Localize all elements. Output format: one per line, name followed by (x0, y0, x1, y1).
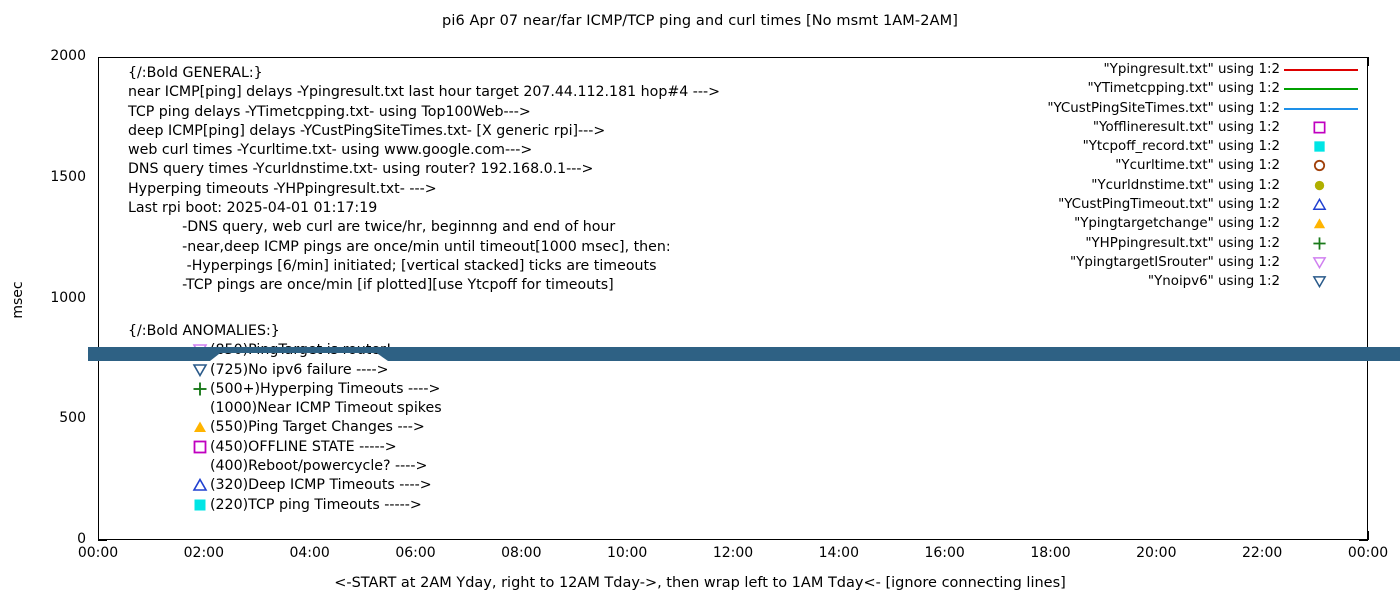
legend-key-square-open-icon (1284, 118, 1364, 137)
anomaly-row: (725)No ipv6 failure ----> (128, 361, 280, 380)
legend-symbol-sample (1312, 274, 1327, 289)
legend-row: "YHPpingresult.txt" using 1:2 (980, 234, 1280, 253)
legend-key-square-filled-icon (1284, 137, 1364, 156)
anomaly-label: (320)Deep ICMP Timeouts ----> (210, 476, 432, 495)
legend-label: "Ycurldnstime.txt" using 1:2 (1091, 178, 1280, 193)
selection-highlight-band (88, 347, 1400, 361)
x-tick-label: 22:00 (1227, 545, 1297, 561)
legend-line-sample (1284, 108, 1358, 110)
general-line: DNS query times -Ycurldnstime.txt- using… (128, 160, 720, 179)
x-tick-label: 10:00 (592, 545, 662, 561)
legend-row: "Ycurltime.txt" using 1:2 (980, 156, 1280, 175)
anomaly-label: (550)Ping Target Changes ---> (210, 418, 425, 437)
y-tick-mark (1359, 540, 1368, 541)
anomaly-symbol-square-open-magenta-icon (192, 439, 208, 455)
general-line: -near,deep ICMP pings are once/min until… (128, 238, 720, 257)
x-tick-label: 08:00 (486, 545, 556, 561)
legend-row: "Ypingtargetchange" using 1:2 (980, 214, 1280, 233)
x-tick-label: 20:00 (1121, 545, 1191, 561)
legend: "Ypingresult.txt" using 1:2"YTimetcpping… (980, 60, 1280, 292)
general-heading: {/:Bold GENERAL:} (128, 64, 720, 83)
anomaly-label: (220)TCP ping Timeouts -----> (210, 496, 422, 515)
general-line: near ICMP[ping] delays -Ypingresult.txt … (128, 83, 720, 102)
general-line: -TCP pings are once/min [if plotted][use… (128, 276, 720, 295)
legend-label: "Ypingtargetchange" using 1:2 (1074, 216, 1280, 231)
anomaly-row: (400)Reboot/powercycle? ----> (128, 457, 280, 476)
legend-row: "Ynoipv6" using 1:2 (980, 272, 1280, 291)
legend-symbol-sample (1312, 216, 1327, 231)
anomaly-symbol-plus-green-icon (192, 381, 208, 397)
chart-title: pi6 Apr 07 near/far ICMP/TCP ping and cu… (0, 13, 1400, 29)
x-tick-label: 12:00 (698, 545, 768, 561)
legend-label: "Ytcpoff_record.txt" using 1:2 (1083, 139, 1280, 154)
legend-key-line-icon (1284, 99, 1364, 118)
general-line: -Hyperpings [6/min] initiated; [vertical… (128, 257, 720, 276)
anomaly-label: (450)OFFLINE STATE -----> (210, 438, 397, 457)
general-annotation-block: {/:Bold GENERAL:}near ICMP[ping] delays … (128, 64, 720, 296)
legend-label: "Ycurltime.txt" using 1:2 (1115, 158, 1280, 173)
general-line: TCP ping delays -YTimetcpping.txt- using… (128, 103, 720, 122)
legend-label: "Ypingresult.txt" using 1:2 (1103, 62, 1280, 77)
x-tick-label: 00:00 (1333, 545, 1400, 561)
legend-row: "YTimetcpping.txt" using 1:2 (980, 79, 1280, 98)
x-tick-label: 00:00 (63, 545, 133, 561)
legend-label: "YCustPingSiteTimes.txt" using 1:2 (1047, 101, 1280, 116)
legend-row: "YCustPingTimeout.txt" using 1:2 (980, 195, 1280, 214)
x-tick-label: 16:00 (910, 545, 980, 561)
legend-row: "Ycurldnstime.txt" using 1:2 (980, 176, 1280, 195)
y-tick-mark (98, 540, 107, 541)
legend-key-line-icon (1284, 79, 1364, 98)
general-line: deep ICMP[ping] delays -YCustPingSiteTim… (128, 122, 720, 141)
general-line: Last rpi boot: 2025-04-01 01:17:19 (128, 199, 720, 218)
general-line: Hyperping timeouts -YHPpingresult.txt- -… (128, 180, 720, 199)
anomaly-row: (500+)Hyperping Timeouts ----> (128, 380, 280, 399)
x-tick-label: 06:00 (381, 545, 451, 561)
anomaly-symbol-triangle-up-filled-orange-icon (192, 419, 208, 435)
anomaly-symbol-triangle-up-open-blue-icon (192, 477, 208, 493)
y-tick-label: 500 (8, 410, 86, 426)
x-tick-label: 04:00 (275, 545, 345, 561)
legend-line-sample (1284, 88, 1358, 90)
x-tick-mark (1368, 57, 1369, 66)
anomalies-heading: {/:Bold ANOMALIES:} (128, 322, 280, 341)
anomaly-row: (320)Deep ICMP Timeouts ----> (128, 476, 280, 495)
legend-label: "Yofflineresult.txt" using 1:2 (1093, 120, 1280, 135)
legend-key-plus-icon (1284, 234, 1364, 253)
x-tick-label: 18:00 (1016, 545, 1086, 561)
legend-symbol-sample (1312, 197, 1327, 212)
legend-row: "Yofflineresult.txt" using 1:2 (980, 118, 1280, 137)
legend-key-triangle-up-open-icon (1284, 195, 1364, 214)
anomaly-symbol-triangle-down-open-blue-icon (192, 362, 208, 378)
y-tick-label: 2000 (8, 48, 86, 64)
anomaly-row: (450)OFFLINE STATE -----> (128, 438, 280, 457)
legend-row: "Ytcpoff_record.txt" using 1:2 (980, 137, 1280, 156)
legend-key-circle-open-icon (1284, 156, 1364, 175)
legend-label: "YCustPingTimeout.txt" using 1:2 (1058, 197, 1280, 212)
legend-symbol-sample (1312, 120, 1327, 135)
x-axis-caption: <-START at 2AM Yday, right to 12AM Tday-… (0, 575, 1400, 591)
legend-line-sample (1284, 69, 1358, 71)
anomaly-row: (220)TCP ping Timeouts -----> (128, 496, 280, 515)
legend-key-triangle-up-filled-icon (1284, 214, 1364, 233)
legend-key-line-icon (1284, 60, 1364, 79)
anomaly-row: (550)Ping Target Changes ---> (128, 418, 280, 437)
legend-label: "Ynoipv6" using 1:2 (1148, 274, 1280, 289)
general-line: web curl times -Ycurltime.txt- using www… (128, 141, 720, 160)
y-tick-label: 1000 (8, 290, 86, 306)
anomaly-label: (725)No ipv6 failure ----> (210, 361, 389, 380)
legend-symbol-sample (1312, 255, 1327, 270)
anomaly-label: (1000)Near ICMP Timeout spikes (210, 399, 442, 418)
x-tick-mark (1368, 531, 1369, 540)
legend-key-triangle-down-open-icon (1284, 253, 1364, 272)
y-tick-label: 1500 (8, 169, 86, 185)
legend-label: "YHPpingresult.txt" using 1:2 (1085, 236, 1280, 251)
legend-symbol-sample (1312, 158, 1327, 173)
legend-row: "Ypingresult.txt" using 1:2 (980, 60, 1280, 79)
legend-symbol-sample (1312, 178, 1327, 193)
anomaly-row: (1000)Near ICMP Timeout spikes (128, 399, 280, 418)
legend-label: "YpingtargetISrouter" using 1:2 (1070, 255, 1280, 270)
anomaly-label: (400)Reboot/powercycle? ----> (210, 457, 427, 476)
anomaly-symbol-square-filled-cyan-icon (192, 497, 208, 513)
x-tick-label: 02:00 (169, 545, 239, 561)
legend-label: "YTimetcpping.txt" using 1:2 (1087, 81, 1280, 96)
legend-symbol-sample (1312, 236, 1327, 251)
legend-row: "YCustPingSiteTimes.txt" using 1:2 (980, 99, 1280, 118)
x-tick-label: 14:00 (804, 545, 874, 561)
chart-page: pi6 Apr 07 near/far ICMP/TCP ping and cu… (0, 0, 1400, 600)
legend-symbol-sample (1312, 139, 1327, 154)
general-line: -DNS query, web curl are twice/hr, begin… (128, 218, 720, 237)
legend-key-circle-filled-icon (1284, 176, 1364, 195)
anomaly-label: (500+)Hyperping Timeouts ----> (210, 380, 440, 399)
legend-key-triangle-down-open2-icon (1284, 272, 1364, 291)
legend-row: "YpingtargetISrouter" using 1:2 (980, 253, 1280, 272)
